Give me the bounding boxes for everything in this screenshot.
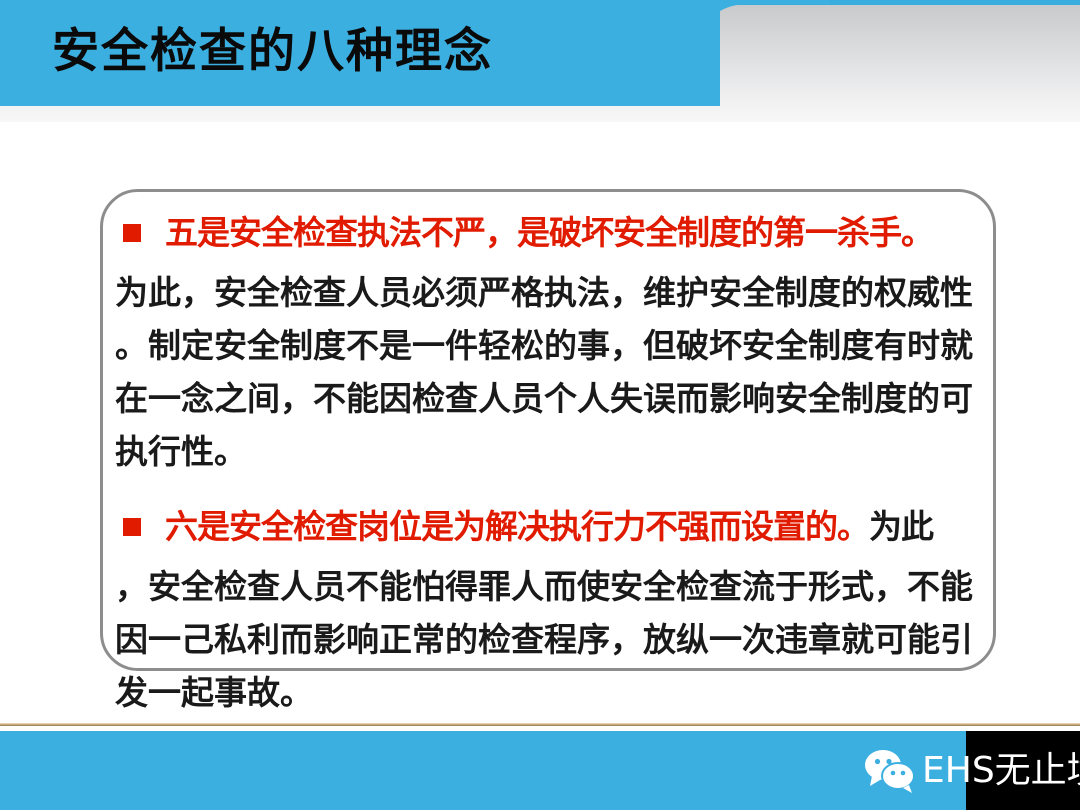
content-block: 六是安全检查岗位是为解决执行力不强而设置的。为此 ，安全检查人员不能怕得罪人而使… xyxy=(115,500,999,719)
body-line: 发一起事故。 xyxy=(115,666,999,719)
bullet-square-icon xyxy=(123,518,141,536)
header-blue-curve xyxy=(600,0,830,112)
body-line: ，安全检查人员不能怕得罪人而使安全检查流于形式，不能 xyxy=(115,560,999,613)
wechat-icon xyxy=(862,748,918,794)
body-line: 为此，安全检查人员必须严格执法，维护安全制度的权威性 xyxy=(115,266,999,319)
brand-text: EHS无止境 xyxy=(922,748,1080,794)
body-line: 在一念之间，不能因检查人员个人失误而影响安全制度的可 xyxy=(115,372,999,425)
page-title: 安全检查的八种理念 xyxy=(52,20,493,84)
content-block: 五是安全检查执法不严，是破坏安全制度的第一杀手。 为此，安全检查人员必须严格执法… xyxy=(115,206,999,478)
body-line: 因一己私利而影响正常的检查程序，放纵一次违章就可能引 xyxy=(115,613,999,666)
bullet-heading-red: 六是安全检查岗位是为解决执行力不强而设置的。 xyxy=(165,507,869,546)
footer-divider xyxy=(0,723,1080,726)
body-line: 。制定安全制度不是一件轻松的事，但破坏安全制度有时就 xyxy=(115,319,999,372)
bullet-heading: 五是安全检查执法不严，是破坏安全制度的第一杀手。 xyxy=(115,206,999,266)
bullet-heading-black: 为此 xyxy=(869,507,933,546)
bullet-square-icon xyxy=(123,224,141,242)
content-body: 五是安全检查执法不严，是破坏安全制度的第一杀手。 为此，安全检查人员必须严格执法… xyxy=(115,206,999,664)
slide: 安全检查的八种理念 五是安全检查执法不严，是破坏安全制度的第一杀手。 为此，安全… xyxy=(0,0,1080,810)
bullet-heading: 六是安全检查岗位是为解决执行力不强而设置的。为此 xyxy=(115,500,999,560)
content-panel: 五是安全检查执法不严，是破坏安全制度的第一杀手。 为此，安全检查人员必须严格执法… xyxy=(100,189,996,671)
body-line: 执行性。 xyxy=(115,425,999,478)
bullet-heading-red: 五是安全检查执法不严，是破坏安全制度的第一杀手。 xyxy=(165,213,933,252)
footer-brand: EHS无止境 xyxy=(862,745,1080,797)
